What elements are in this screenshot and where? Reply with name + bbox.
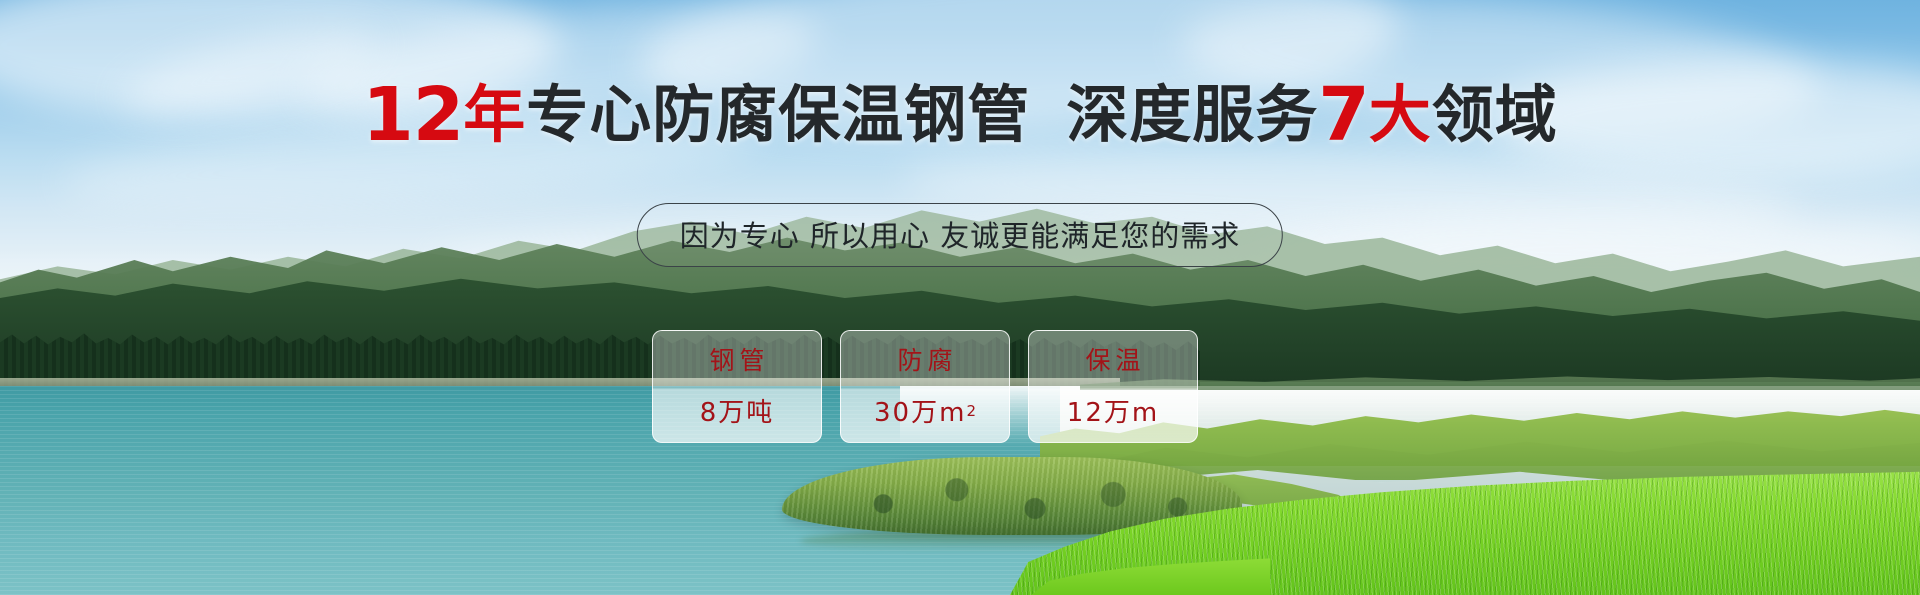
headline-fields-number: 7 xyxy=(1318,72,1369,158)
stat-card-value-superscript: 2 xyxy=(966,402,976,420)
banner-headline: 12年专心防腐保温钢管深度服务7大领域 xyxy=(0,82,1920,149)
stat-card-title: 钢管 xyxy=(704,335,769,383)
headline-fields-text: 领域 xyxy=(1432,78,1558,151)
headline-years-number: 12 xyxy=(362,72,463,158)
stat-card-value: 8万吨 xyxy=(700,383,775,438)
headline-main-text: 专心防腐保温钢管 xyxy=(526,78,1030,151)
banner-subtitle-pill: 因为专心 所以用心 友诚更能满足您的需求 xyxy=(637,203,1283,267)
stat-card-value: 12万m xyxy=(1067,383,1159,438)
stat-card-steel-pipe[interactable]: 钢管 8万吨 xyxy=(652,330,822,443)
stat-card-insulation[interactable]: 保温 12万m xyxy=(1028,330,1198,443)
stat-card-title: 防腐 xyxy=(892,335,957,383)
stat-card-title: 保温 xyxy=(1080,335,1145,383)
stat-card-value-text: 8万吨 xyxy=(700,392,775,429)
stat-card-value: 30万m2 xyxy=(874,383,976,438)
stat-card-anticorrosion[interactable]: 防腐 30万m2 xyxy=(840,330,1010,443)
headline-fields-unit: 大 xyxy=(1369,78,1432,151)
stat-card-group: 钢管 8万吨 防腐 30万m2 保温 12万m xyxy=(652,330,1198,443)
headline-years-unit: 年 xyxy=(463,78,526,151)
stat-card-value-text: 12万m xyxy=(1067,392,1159,429)
headline-service-text: 深度服务 xyxy=(1066,78,1318,151)
hero-banner: 12年专心防腐保温钢管深度服务7大领域 因为专心 所以用心 友诚更能满足您的需求… xyxy=(0,0,1920,595)
stat-card-value-text: 30万m xyxy=(874,392,966,429)
